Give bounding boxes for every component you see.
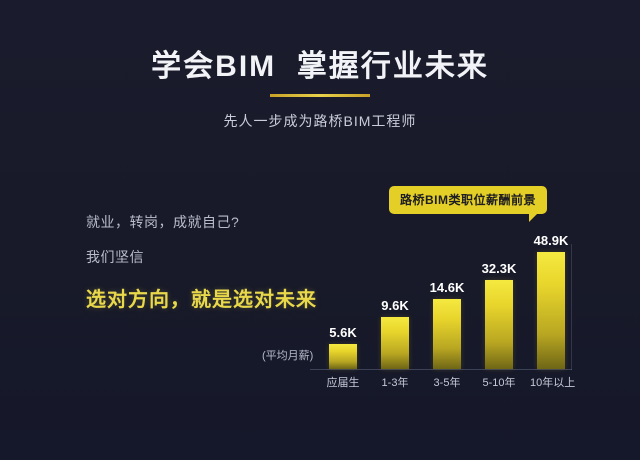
chart-bar-column[interactable]: 32.3K	[478, 261, 520, 369]
page-title: 学会BIM 掌握行业未来	[0, 50, 640, 85]
poster-root: 学会BIM 掌握行业未来 先人一步成为路桥BIM工程师 就业，转岗，成就自己? …	[0, 0, 640, 460]
chart-bar-column[interactable]: 5.6K	[322, 325, 364, 369]
page-subtitle: 先人一步成为路桥BIM工程师	[0, 111, 640, 131]
chart-bar-value-label: 9.6K	[381, 298, 408, 313]
badge-label: 路桥BIM类职位薪酬前景	[400, 193, 536, 207]
chart-bar-value-label: 48.9K	[534, 233, 569, 248]
badge-tail-icon	[529, 213, 538, 222]
chart-category-label: 应届生	[322, 374, 364, 390]
title-underline-rule	[270, 94, 370, 97]
chart-bar-value-label: 14.6K	[430, 280, 465, 295]
chart-bar-value-label: 32.3K	[482, 261, 517, 276]
chart-bar-column[interactable]: 48.9K	[530, 233, 572, 369]
chart-category-label: 3-5年	[426, 374, 468, 390]
header: 学会BIM 掌握行业未来 先人一步成为路桥BIM工程师	[0, 50, 640, 131]
chart-bar-column[interactable]: 14.6K	[426, 280, 468, 369]
chart-bar[interactable]	[381, 317, 409, 369]
chart-bars: 5.6K9.6K14.6K32.3K48.9K	[322, 228, 572, 369]
chart-bar[interactable]	[329, 344, 357, 369]
chart-bar[interactable]	[433, 299, 461, 369]
chart-category-label: 1-3年	[374, 374, 416, 390]
chart-callout-badge: 路桥BIM类职位薪酬前景	[389, 186, 547, 214]
chart-category-label: 10年以上	[530, 374, 572, 390]
chart-baseline-axis	[310, 369, 572, 370]
chart-bar[interactable]	[537, 252, 565, 369]
chart-bar[interactable]	[485, 280, 513, 369]
badge-bubble: 路桥BIM类职位薪酬前景	[389, 186, 547, 214]
chart-category-label: 5-10年	[478, 374, 520, 390]
salary-bar-chart: 5.6K9.6K14.6K32.3K48.9K 应届生1-3年3-5年5-10年…	[300, 228, 578, 388]
chart-category-labels: 应届生1-3年3-5年5-10年10年以上	[322, 374, 572, 390]
chart-bar-value-label: 5.6K	[329, 325, 356, 340]
chart-bar-column[interactable]: 9.6K	[374, 298, 416, 369]
chart-plot-area: 5.6K9.6K14.6K32.3K48.9K	[300, 228, 578, 370]
chart-ylabel-note: (平均月薪)	[262, 347, 313, 363]
